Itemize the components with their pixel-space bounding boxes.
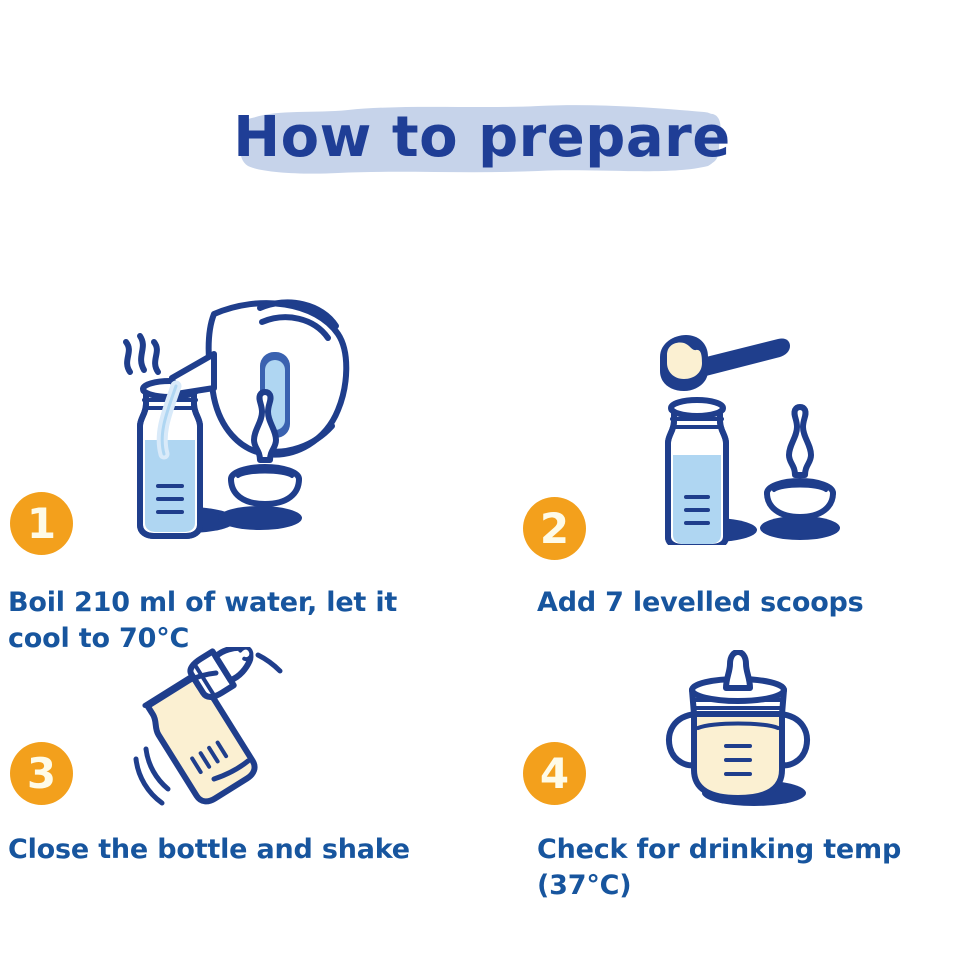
page-title: How to prepare [0,96,964,180]
sippy-cup-icon [650,650,830,815]
step-3: 3 Close the bottle and shake [0,650,482,880]
step-number-badge: 3 [10,742,73,805]
step-1: 1 Boil 210 ml of water, let it cool to 7… [0,280,482,660]
step-caption: Close the bottle and shake [8,832,448,868]
kettle-pouring-into-bottle-icon [110,290,350,545]
step-4: 4 Check for drinking temp (37°C) [482,650,964,880]
step-caption: Check for drinking temp (37°C) [537,832,964,904]
step-number-badge: 2 [523,497,586,560]
step-caption: Add 7 levelled scoops [537,585,964,621]
step-2: 2 Add 7 levelled scoops [482,280,964,660]
step-number-badge: 4 [523,742,586,805]
shaking-bottle-icon [130,647,340,812]
scoop-over-bottle-icon [640,325,860,545]
page-header: How to prepare [0,96,964,192]
step-number-badge: 1 [10,492,73,555]
